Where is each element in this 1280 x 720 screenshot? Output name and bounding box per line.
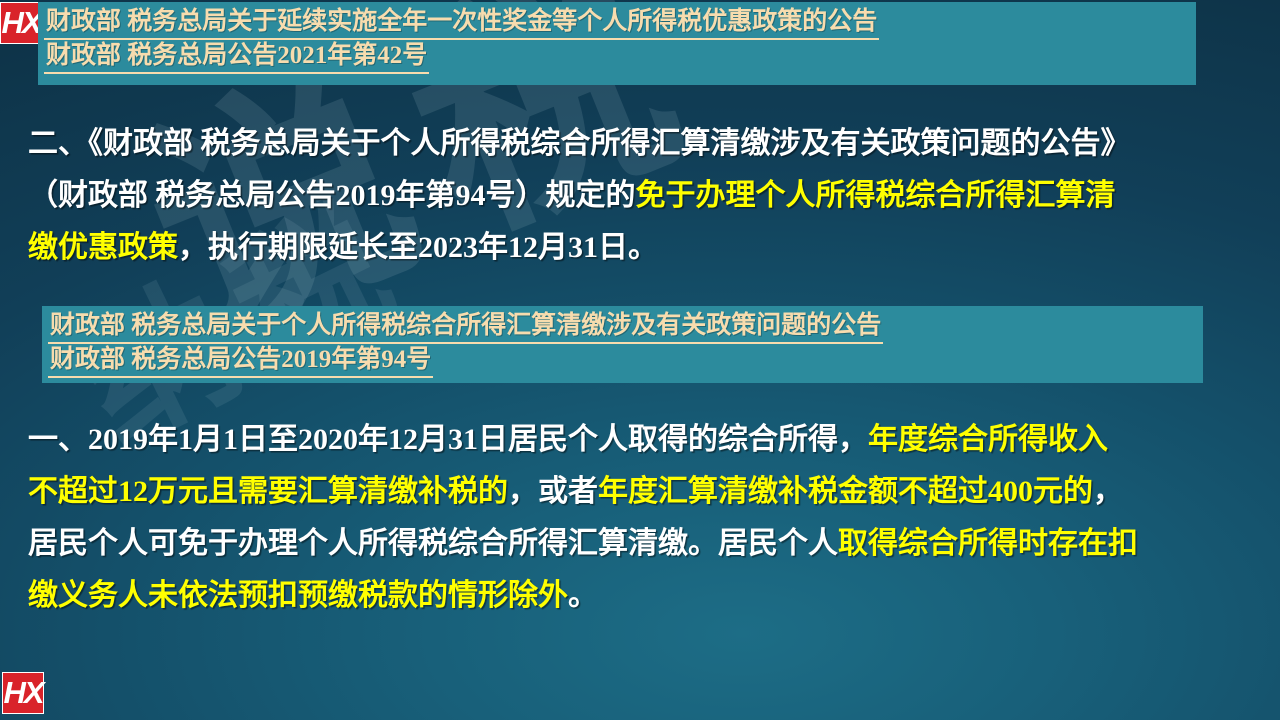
para-1-line-3-text: ，执行期限延长至2023年12月31日。 bbox=[178, 231, 658, 264]
para-2-line-1-highlight: 年度综合所得收入 bbox=[868, 423, 1108, 456]
banner-2-document-number: 财政部 税务总局公告2019年第94号 bbox=[48, 344, 433, 378]
para-2-line-3-text: 居民个人可免于办理个人所得税综合所得汇算清缴。居民个人 bbox=[28, 527, 838, 560]
para-2-line-1-text: 一、2019年1月1日至2020年12月31日居民个人取得的综合所得， bbox=[28, 423, 868, 456]
para-2-line-3: 居民个人可免于办理个人所得税综合所得汇算清缴。居民个人取得综合所得时存在扣 bbox=[28, 518, 1268, 570]
para-1-line-3: 缴优惠政策，执行期限延长至2023年12月31日。 bbox=[28, 222, 1268, 274]
banner-1-title: 财政部 税务总局关于延续实施全年一次性奖金等个人所得税优惠政策的公告 bbox=[44, 6, 879, 40]
banner-1-document-number: 财政部 税务总局公告2021年第42号 bbox=[44, 40, 429, 74]
para-2-line-4-text: 。 bbox=[568, 579, 598, 612]
para-2-line-2-highlight-a: 不超过12万元且需要汇算清缴补税的 bbox=[28, 475, 508, 508]
announcement-banner-2021: 财政部 税务总局关于延续实施全年一次性奖金等个人所得税优惠政策的公告 财政部 税… bbox=[38, 2, 1196, 85]
banner-2-row-2: 财政部 税务总局公告2019年第94号 bbox=[42, 344, 1203, 378]
para-2-line-2-text-b: ，或者 bbox=[508, 475, 598, 508]
banner-2-title: 财政部 税务总局关于个人所得税综合所得汇算清缴涉及有关政策问题的公告 bbox=[48, 310, 883, 344]
para-1-line-1: 二、《财政部 税务总局关于个人所得税综合所得汇算清缴涉及有关政策问题的公告》 bbox=[28, 118, 1268, 170]
banner-1-row-2: 财政部 税务总局公告2021年第42号 bbox=[38, 40, 1196, 74]
presentation-slide: 说税 纳税 HX 财政部 税务总局关于延续实施全年一次性奖金等个人所得税优惠政策… bbox=[0, 0, 1280, 720]
para-1-line-2-text: （财政部 税务总局公告2019年第94号）规定的 bbox=[28, 179, 636, 212]
para-2-line-2-highlight-b: 年度汇算清缴补税金额不超过400元的 bbox=[598, 475, 1093, 508]
para-2-line-2-text-c: ， bbox=[1093, 475, 1123, 508]
policy-paragraph-one: 一、2019年1月1日至2020年12月31日居民个人取得的综合所得，年度综合所… bbox=[28, 414, 1268, 622]
announcement-banner-2019: 财政部 税务总局关于个人所得税综合所得汇算清缴涉及有关政策问题的公告 财政部 税… bbox=[42, 306, 1203, 383]
para-2-line-4: 缴义务人未依法预扣预缴税款的情形除外。 bbox=[28, 570, 1268, 622]
brand-logo-bottom-label: HX bbox=[3, 675, 42, 711]
para-1-line-3-highlight: 缴优惠政策 bbox=[28, 231, 178, 264]
brand-logo-top-label: HX bbox=[1, 5, 40, 41]
banner-2-row-1: 财政部 税务总局关于个人所得税综合所得汇算清缴涉及有关政策问题的公告 bbox=[42, 310, 1203, 344]
brand-logo-bottom: HX bbox=[2, 672, 44, 714]
para-1-line-2: （财政部 税务总局公告2019年第94号）规定的免于办理个人所得税综合所得汇算清 bbox=[28, 170, 1268, 222]
para-2-line-3-highlight: 取得综合所得时存在扣 bbox=[838, 527, 1138, 560]
para-2-line-1: 一、2019年1月1日至2020年12月31日居民个人取得的综合所得，年度综合所… bbox=[28, 414, 1268, 466]
para-2-line-4-highlight: 缴义务人未依法预扣预缴税款的情形除外 bbox=[28, 579, 568, 612]
policy-paragraph-two: 二、《财政部 税务总局关于个人所得税综合所得汇算清缴涉及有关政策问题的公告》 （… bbox=[28, 118, 1268, 274]
para-1-line-1-text: 二、《财政部 税务总局关于个人所得税综合所得汇算清缴涉及有关政策问题的公告》 bbox=[28, 127, 1131, 160]
para-2-line-2: 不超过12万元且需要汇算清缴补税的，或者年度汇算清缴补税金额不超过400元的， bbox=[28, 466, 1268, 518]
para-1-line-2-highlight: 免于办理个人所得税综合所得汇算清 bbox=[636, 179, 1116, 212]
banner-1-row-1: 财政部 税务总局关于延续实施全年一次性奖金等个人所得税优惠政策的公告 bbox=[38, 6, 1196, 40]
brand-logo-top: HX bbox=[0, 2, 42, 44]
